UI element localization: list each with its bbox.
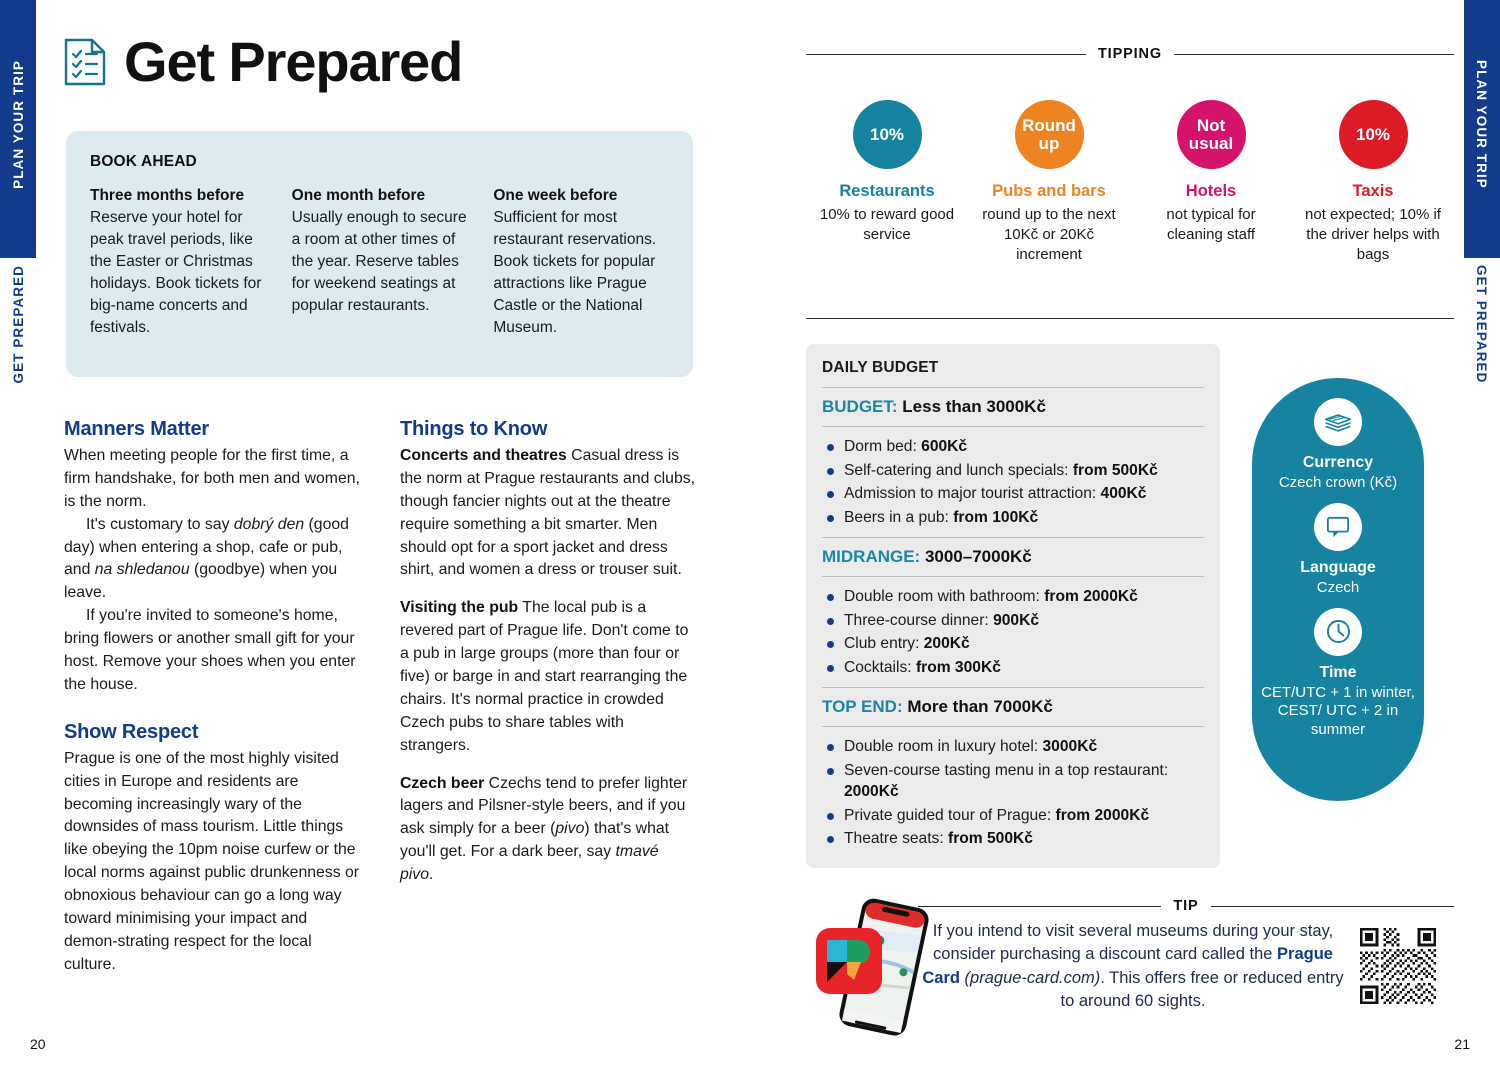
item-label: Seven-course tasting menu in a top resta… xyxy=(844,762,1168,779)
tipping-name-pubs-and-bars: Pubs and bars xyxy=(976,182,1122,201)
fact-title-currency: Currency xyxy=(1279,454,1397,472)
czech-phrase-na-shledanou: na shledanou xyxy=(95,561,190,578)
item-value: from 500Kč xyxy=(1073,462,1158,479)
fact-currency: Currency Czech crown (Kč) xyxy=(1279,398,1397,493)
page-title-row: Get Prepared xyxy=(64,34,462,90)
item-label: Theatre seats: xyxy=(844,830,948,847)
item-value: from 100Kč xyxy=(953,509,1038,526)
item-value: from 2000Kč xyxy=(1044,588,1138,605)
tipping-section-header: TIPPING xyxy=(806,46,1454,62)
tier-keyword: BUDGET: xyxy=(822,397,898,416)
item-label: Beers in a pub: xyxy=(844,509,953,526)
manners-paragraph-3: If you're invited to someone's home, bri… xyxy=(64,605,360,697)
tier-keyword: MIDRANGE: xyxy=(822,547,920,566)
rule-right xyxy=(1174,54,1454,55)
item-label: Admission to major tourist attraction: xyxy=(844,485,1101,502)
tip-heading: TIP xyxy=(1173,898,1198,914)
checklist-document-icon xyxy=(64,38,106,86)
book-ahead-text: Sufficient for most restaurant reservati… xyxy=(493,207,669,339)
column-two: Things to Know Concerts and theatres Cas… xyxy=(400,418,696,977)
fact-time: Time CET/UTC + 1 in winter, CEST/ UTC + … xyxy=(1252,608,1424,740)
item-value: 200Kč xyxy=(924,635,970,652)
tipping-badge-restaurants: 10% xyxy=(853,100,922,169)
budget-tier-heading-top-end: TOP END: More than 7000Kč xyxy=(822,697,1204,717)
page-number-left: 20 xyxy=(30,1036,46,1052)
book-ahead-text: Reserve your hotel for peak travel perio… xyxy=(90,207,266,339)
page-number-right: 21 xyxy=(1454,1036,1470,1052)
text-run: If you intend to visit several museums d… xyxy=(933,922,1333,963)
run-in-heading-visiting-pub: Visiting the pub xyxy=(400,599,518,616)
tier-range: Less than 3000Kč xyxy=(898,397,1046,416)
budget-list-item: Beers in a pub: from 100Kč xyxy=(822,507,1204,529)
tip-section-header: TIP xyxy=(918,898,1454,914)
phone-map-app-icon xyxy=(812,892,932,1040)
text-run: It's customary to say xyxy=(86,516,234,533)
banknotes-icon xyxy=(1314,398,1362,446)
budget-list-item: Three-course dinner: 900Kč xyxy=(822,610,1204,632)
book-ahead-column: Three months before Reserve your hotel f… xyxy=(90,185,266,339)
book-ahead-column: One month before Usually enough to secur… xyxy=(292,185,468,339)
budget-list-item: Self-catering and lunch specials: from 5… xyxy=(822,460,1204,482)
column-one: Manners Matter When meeting people for t… xyxy=(64,418,360,977)
budget-list-top-end: Double room in luxury hotel: 3000Kč Seve… xyxy=(822,736,1204,850)
budget-list-item: Theatre seats: from 500Kč xyxy=(822,828,1204,850)
text-run: Casual dress is the norm at Prague resta… xyxy=(400,447,695,578)
things-to-know-item-beer: Czech beer Czechs tend to prefer lighter… xyxy=(400,773,696,887)
budget-tier-heading-budget: BUDGET: Less than 3000Kč xyxy=(822,397,1204,417)
tipping-name-hotels: Hotels xyxy=(1138,182,1284,201)
text-run: . xyxy=(429,866,433,883)
czech-phrase-dobry-den: dobrý den xyxy=(234,516,304,533)
fact-text-time: CET/UTC + 1 in winter, CEST/ UTC + 2 in … xyxy=(1252,684,1424,740)
tipping-desc-pubs-and-bars: round up to the next 10Kč or 20Kč increm… xyxy=(976,205,1122,264)
divider xyxy=(822,687,1204,688)
spread-page: PLAN YOUR TRIP GET PREPARED PLAN YOUR TR… xyxy=(0,0,1500,1082)
prague-card-website: (prague-card.com) xyxy=(960,969,1100,987)
item-value: 2000Kč xyxy=(844,783,899,800)
tipping-name-taxis: Taxis xyxy=(1300,182,1446,201)
qr-code-icon[interactable] xyxy=(1360,928,1436,1004)
things-to-know-item: Concerts and theatres Casual dress is th… xyxy=(400,445,696,582)
budget-list-item: Club entry: 200Kč xyxy=(822,633,1204,655)
daily-budget-heading: DAILY BUDGET xyxy=(822,359,1204,377)
item-value: from 300Kč xyxy=(916,659,1001,676)
tipping-desc-restaurants: 10% to reward good service xyxy=(814,205,960,245)
tipping-badge-pubs-and-bars: Round up xyxy=(1015,100,1084,169)
rule-right xyxy=(1211,906,1454,907)
divider xyxy=(822,576,1204,577)
left-page: Get Prepared BOOK AHEAD Three months bef… xyxy=(0,0,750,1082)
book-ahead-label: One week before xyxy=(493,185,669,207)
text-run: The local pub is a revered part of Pragu… xyxy=(400,599,688,753)
things-to-know-item: Visiting the pub The local pub is a reve… xyxy=(400,597,696,757)
book-ahead-text: Usually enough to secure a room at other… xyxy=(292,207,468,317)
rule-left xyxy=(918,906,1161,907)
book-ahead-heading: BOOK AHEAD xyxy=(90,153,669,171)
fact-language: Language Czech xyxy=(1300,503,1376,598)
item-value: 900Kč xyxy=(993,612,1039,629)
tipping-name-restaurants: Restaurants xyxy=(814,182,960,201)
book-ahead-column: One week before Sufficient for most rest… xyxy=(493,185,669,339)
rule-left xyxy=(806,54,1086,55)
fact-title-language: Language xyxy=(1300,559,1376,577)
budget-tier-heading-midrange: MIDRANGE: 3000–7000Kč xyxy=(822,547,1204,567)
item-label: Double room with bathroom: xyxy=(844,588,1044,605)
budget-list-item: Double room with bathroom: from 2000Kč xyxy=(822,586,1204,608)
text-run: . This offers free or reduced entry to a… xyxy=(1061,969,1344,1010)
item-value: from 2000Kč xyxy=(1056,807,1150,824)
book-ahead-label: Three months before xyxy=(90,185,266,207)
budget-list-midrange: Double room with bathroom: from 2000Kč T… xyxy=(822,586,1204,678)
tier-range: More than 7000Kč xyxy=(903,697,1053,716)
item-value: 400Kč xyxy=(1101,485,1147,502)
budget-list-item: Seven-course tasting menu in a top resta… xyxy=(822,760,1204,803)
divider xyxy=(822,726,1204,727)
fact-text-currency: Czech crown (Kč) xyxy=(1279,474,1397,493)
item-label: Dorm bed: xyxy=(844,438,921,455)
budget-list-budget: Dorm bed: 600Kč Self-catering and lunch … xyxy=(822,436,1204,528)
tipping-bottom-rule xyxy=(806,318,1454,319)
divider xyxy=(822,537,1204,538)
respect-paragraph-1: Prague is one of the most highly visited… xyxy=(64,748,360,977)
item-label: Self-catering and lunch specials: xyxy=(844,462,1073,479)
tier-range: 3000–7000Kč xyxy=(920,547,1032,566)
section-heading-things-to-know: Things to Know xyxy=(400,418,696,441)
tipping-desc-taxis: not expected; 10% if the driver helps wi… xyxy=(1300,205,1446,264)
item-value: 3000Kč xyxy=(1043,738,1098,755)
item-label: Cocktails: xyxy=(844,659,916,676)
fact-title-time: Time xyxy=(1252,664,1424,682)
speech-bubble-icon xyxy=(1314,503,1362,551)
daily-budget-panel: DAILY BUDGET BUDGET: Less than 3000Kč Do… xyxy=(806,344,1220,868)
tipping-item-restaurants: 10% Restaurants 10% to reward good servi… xyxy=(806,100,968,264)
divider xyxy=(822,426,1204,427)
divider xyxy=(822,387,1204,388)
manners-paragraph-2: It's customary to say dobrý den (good da… xyxy=(64,514,360,606)
tipping-grid: 10% Restaurants 10% to reward good servi… xyxy=(806,100,1454,264)
tipping-desc-hotels: not typical for cleaning staff xyxy=(1138,205,1284,245)
budget-list-item: Cocktails: from 300Kč xyxy=(822,657,1204,679)
country-facts-pill: Currency Czech crown (Kč) Language Czech… xyxy=(1252,378,1424,801)
item-label: Club entry: xyxy=(844,635,924,652)
section-heading-manners: Manners Matter xyxy=(64,418,360,441)
section-heading-show-respect: Show Respect xyxy=(64,721,360,744)
clock-icon xyxy=(1314,608,1362,656)
budget-list-item: Admission to major tourist attraction: 4… xyxy=(822,483,1204,505)
run-in-heading-concerts: Concerts and theatres xyxy=(400,447,567,464)
tipping-badge-hotels: Not usual xyxy=(1177,100,1246,169)
budget-list-item: Private guided tour of Prague: from 2000… xyxy=(822,805,1204,827)
run-in-heading-czech-beer: Czech beer xyxy=(400,775,484,792)
item-label: Double room in luxury hotel: xyxy=(844,738,1043,755)
budget-list-item: Dorm bed: 600Kč xyxy=(822,436,1204,458)
item-value: from 500Kč xyxy=(948,830,1033,847)
left-page-columns: Manners Matter When meeting people for t… xyxy=(64,418,696,977)
manners-paragraph-1: When meeting people for the first time, … xyxy=(64,445,360,514)
book-ahead-panel: BOOK AHEAD Three months before Reserve y… xyxy=(66,131,693,377)
item-value: 600Kč xyxy=(921,438,967,455)
item-label: Three-course dinner: xyxy=(844,612,993,629)
budget-list-item: Double room in luxury hotel: 3000Kč xyxy=(822,736,1204,758)
page-title: Get Prepared xyxy=(124,34,462,90)
tip-body-text: If you intend to visit several museums d… xyxy=(918,920,1348,1014)
tipping-item-pubs-and-bars: Round up Pubs and bars round up to the n… xyxy=(968,100,1130,264)
tier-keyword: TOP END: xyxy=(822,697,903,716)
item-label: Private guided tour of Prague: xyxy=(844,807,1056,824)
tipping-item-hotels: Not usual Hotels not typical for cleanin… xyxy=(1130,100,1292,264)
czech-word-pivo: pivo xyxy=(555,820,584,837)
tipping-item-taxis: 10% Taxis not expected; 10% if the drive… xyxy=(1292,100,1454,264)
fact-text-language: Czech xyxy=(1300,579,1376,598)
tipping-badge-taxis: 10% xyxy=(1339,100,1408,169)
book-ahead-label: One month before xyxy=(292,185,468,207)
tipping-heading: TIPPING xyxy=(1098,46,1162,62)
